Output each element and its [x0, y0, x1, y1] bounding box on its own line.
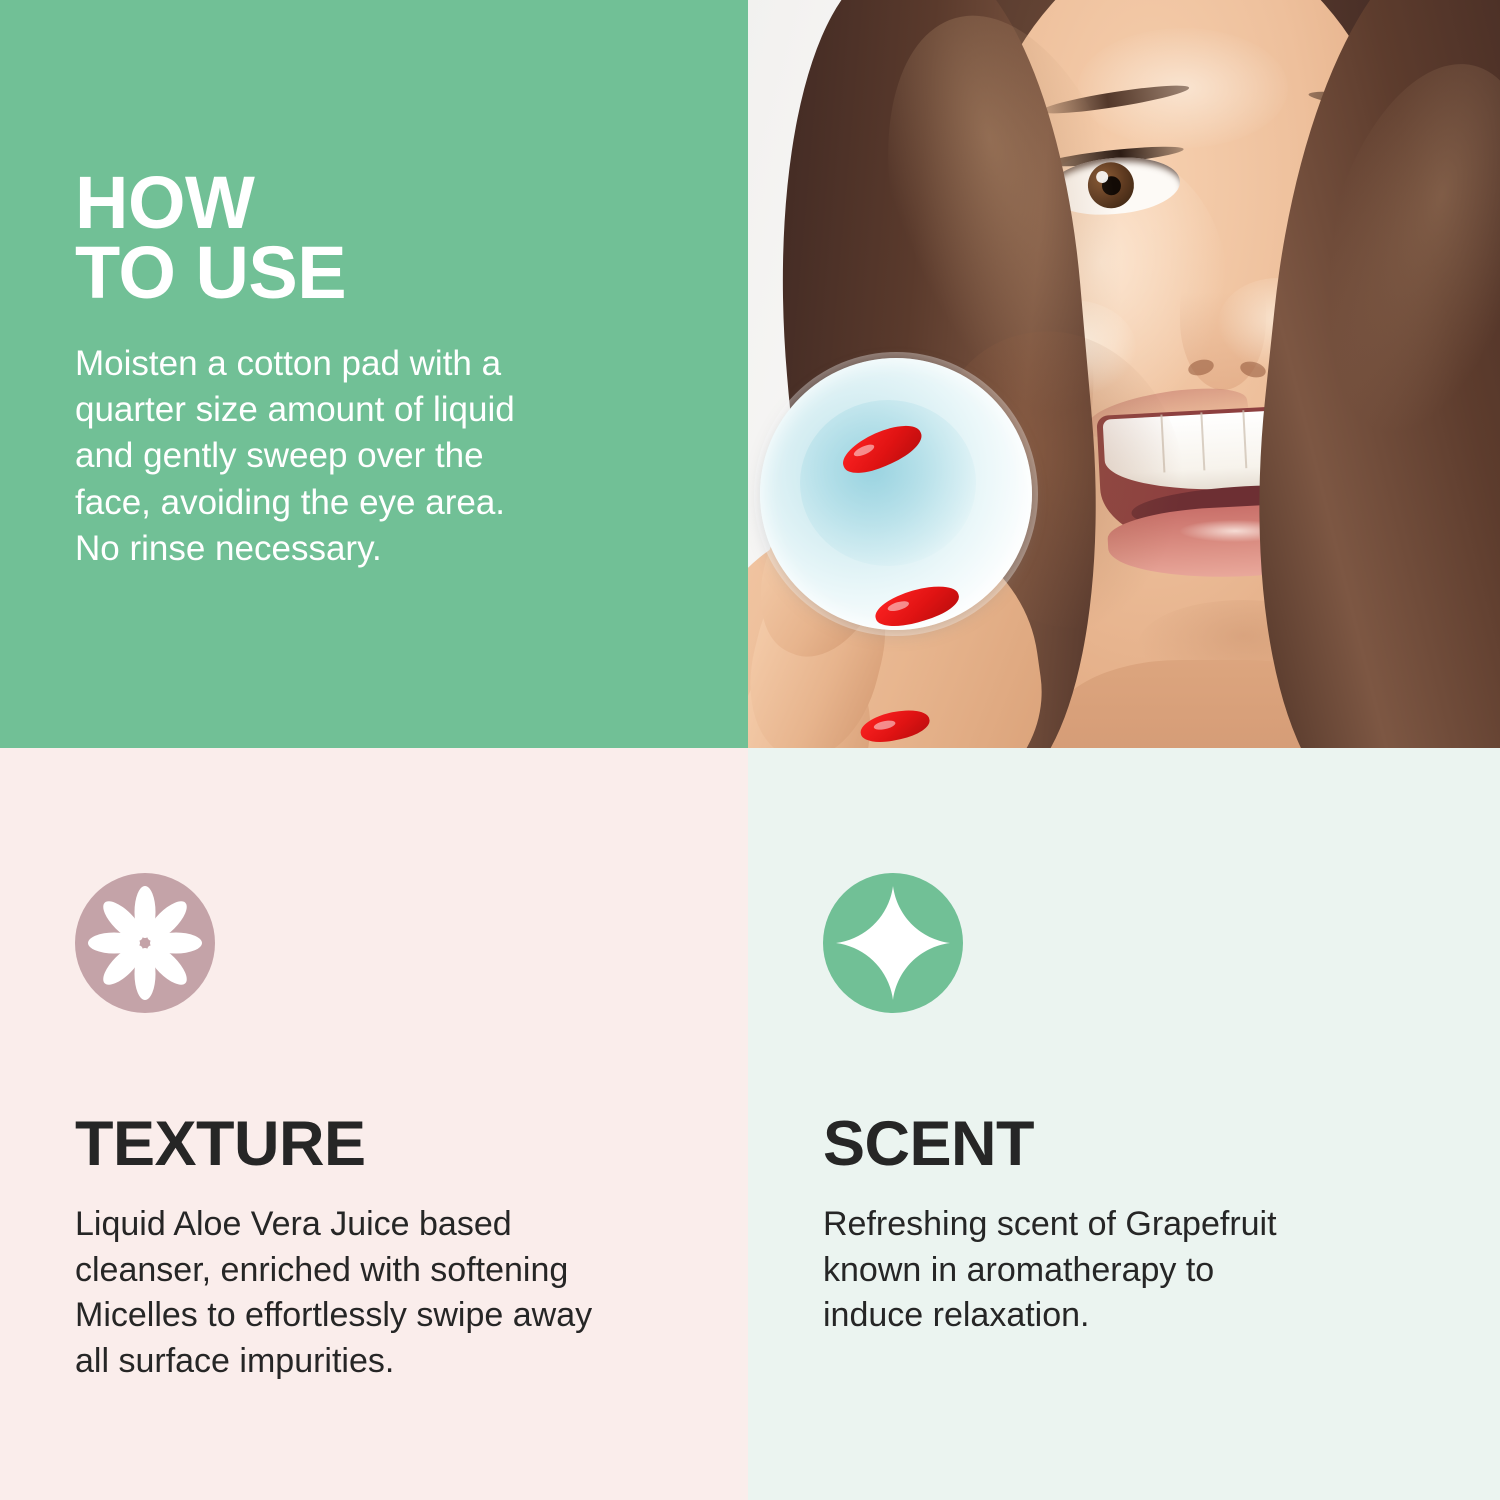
- how-to-use-body: Moisten a cotton pad with a quarter size…: [75, 341, 615, 572]
- how-to-use-body-line: face, avoiding the eye area.: [75, 480, 615, 526]
- how-to-use-panel: HOW TO USE Moisten a cotton pad with a q…: [0, 0, 748, 748]
- product-infographic: HOW TO USE Moisten a cotton pad with a q…: [0, 0, 1500, 1500]
- texture-icon-badge: [75, 873, 215, 1013]
- scent-body-line: known in aromatherapy to: [823, 1248, 1463, 1294]
- how-to-use-body-line: Moisten a cotton pad with a: [75, 341, 615, 387]
- texture-body-line: all surface impurities.: [75, 1339, 715, 1385]
- texture-title: TEXTURE: [75, 1113, 715, 1176]
- cotton-pad-liquid: [800, 400, 976, 566]
- texture-content: TEXTURE Liquid Aloe Vera Juice based cle…: [75, 873, 715, 1384]
- scent-body-line: induce relaxation.: [823, 1293, 1463, 1339]
- scent-title: SCENT: [823, 1113, 1463, 1176]
- how-to-use-body-line: No rinse necessary.: [75, 526, 615, 572]
- how-to-use-heading-line2: TO USE: [75, 238, 635, 308]
- texture-panel: TEXTURE Liquid Aloe Vera Juice based cle…: [0, 748, 748, 1500]
- scent-panel: SCENT Refreshing scent of Grapefruit kno…: [748, 748, 1500, 1500]
- scent-body-line: Refreshing scent of Grapefruit: [823, 1202, 1463, 1248]
- texture-body-line: Liquid Aloe Vera Juice based: [75, 1202, 715, 1248]
- scent-content: SCENT Refreshing scent of Grapefruit kno…: [823, 873, 1463, 1339]
- model-photo: [748, 0, 1500, 748]
- nail-highlight: [852, 442, 875, 458]
- how-to-use-content: HOW TO USE Moisten a cotton pad with a q…: [75, 168, 635, 572]
- texture-body: Liquid Aloe Vera Juice based cleanser, e…: [75, 1202, 715, 1384]
- texture-body-line: cleanser, enriched with softening: [75, 1248, 715, 1294]
- nail-highlight: [873, 719, 896, 731]
- nail-highlight: [887, 599, 910, 613]
- scent-body: Refreshing scent of Grapefruit known in …: [823, 1202, 1463, 1339]
- texture-body-line: Micelles to effortlessly swipe away: [75, 1293, 715, 1339]
- how-to-use-heading: HOW TO USE: [75, 168, 635, 307]
- how-to-use-body-line: quarter size amount of liquid: [75, 387, 615, 433]
- how-to-use-body-line: and gently sweep over the: [75, 433, 615, 479]
- scent-icon-badge: [823, 873, 963, 1013]
